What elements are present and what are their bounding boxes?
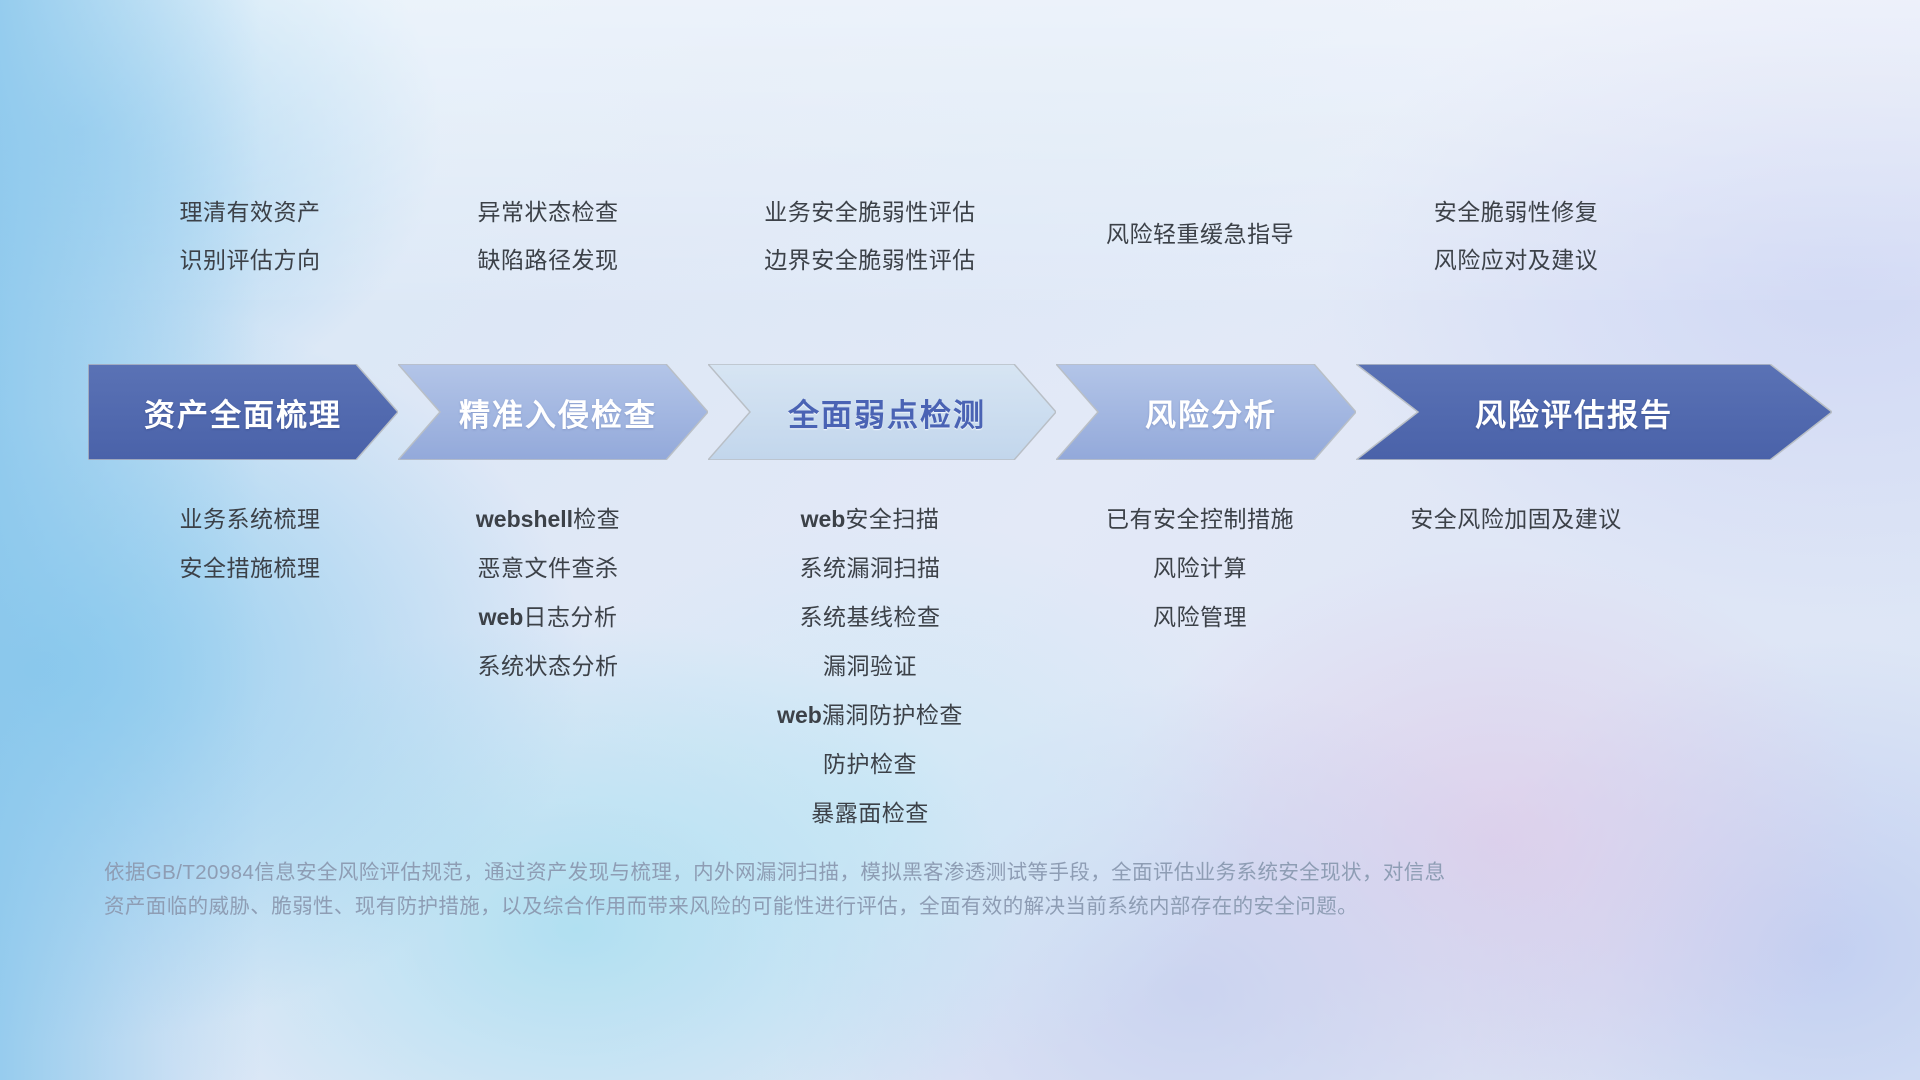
detail-item: web安全扫描 bbox=[680, 495, 1060, 544]
top-caption-risk-analysis: 风险轻重缓急指导 bbox=[1050, 210, 1350, 258]
detail-item: 系统漏洞扫描 bbox=[680, 544, 1060, 593]
detail-item-latin: webshell bbox=[476, 506, 573, 532]
detail-list-risk-analysis: 已有安全控制措施风险计算风险管理 bbox=[1030, 495, 1370, 642]
top-caption-line: 识别评估方向 bbox=[100, 236, 400, 284]
detail-item-latin: web bbox=[801, 506, 846, 532]
detail-item: 漏洞验证 bbox=[680, 642, 1060, 691]
stage-chevron-risk-report[interactable]: 风险评估报告 bbox=[1356, 364, 1832, 460]
top-caption-line: 风险应对及建议 bbox=[1356, 236, 1676, 284]
top-caption-line: 业务安全脆弱性评估 bbox=[700, 188, 1040, 236]
detail-item-rest: 日志分析 bbox=[523, 604, 617, 630]
detail-item-rest: 漏洞防护检查 bbox=[822, 702, 963, 728]
top-caption-risk-report: 安全脆弱性修复风险应对及建议 bbox=[1356, 188, 1676, 284]
detail-item: 风险计算 bbox=[1030, 544, 1370, 593]
top-caption-weakness-detection: 业务安全脆弱性评估边界安全脆弱性评估 bbox=[700, 188, 1040, 284]
detail-item-latin: web bbox=[777, 702, 822, 728]
detail-item: 安全风险加固及建议 bbox=[1336, 495, 1696, 544]
detail-item: 恶意文件查杀 bbox=[378, 544, 718, 593]
detail-item: 防护检查 bbox=[680, 740, 1060, 789]
detail-item: web日志分析 bbox=[378, 593, 718, 642]
stage-title-intrusion-check: 精准入侵检查 bbox=[459, 390, 657, 435]
stage-chevron-weakness-detection[interactable]: 全面弱点检测 bbox=[708, 364, 1056, 460]
detail-item: 系统状态分析 bbox=[378, 642, 718, 691]
detail-item: 风险管理 bbox=[1030, 593, 1370, 642]
detail-item-latin: web bbox=[479, 604, 524, 630]
footer-line: 资产面临的威胁、脆弱性、现有防护措施，以及综合作用而带来风险的可能性进行评估，全… bbox=[104, 890, 1824, 924]
detail-item: web漏洞防护检查 bbox=[680, 691, 1060, 740]
detail-item: webshell检查 bbox=[378, 495, 718, 544]
stage-chevron-band: 资产全面梳理精准入侵检查全面弱点检测风险分析风险评估报告 bbox=[0, 364, 1920, 460]
detail-item: 已有安全控制措施 bbox=[1030, 495, 1370, 544]
top-caption-line: 安全脆弱性修复 bbox=[1356, 188, 1676, 236]
top-caption-asset-inventory: 理清有效资产识别评估方向 bbox=[100, 188, 400, 284]
detail-item: 安全措施梳理 bbox=[80, 544, 420, 593]
detail-list-weakness-detection: web安全扫描系统漏洞扫描系统基线检查漏洞验证web漏洞防护检查防护检查暴露面检… bbox=[680, 495, 1060, 838]
top-caption-intrusion-check: 异常状态检查缺陷路径发现 bbox=[398, 188, 698, 284]
detail-item: 业务系统梳理 bbox=[80, 495, 420, 544]
top-caption-line: 缺陷路径发现 bbox=[398, 236, 698, 284]
stage-chevron-intrusion-check[interactable]: 精准入侵检查 bbox=[398, 364, 708, 460]
stage-title-asset-inventory: 资产全面梳理 bbox=[144, 390, 342, 435]
stage-chevron-risk-analysis[interactable]: 风险分析 bbox=[1056, 364, 1356, 460]
detail-item-rest: 安全扫描 bbox=[845, 506, 939, 532]
detail-item: 系统基线检查 bbox=[680, 593, 1060, 642]
top-caption-line: 理清有效资产 bbox=[100, 188, 400, 236]
footer-line: 依据GB/T20984信息安全风险评估规范，通过资产发现与梳理，内外网漏洞扫描，… bbox=[104, 856, 1824, 890]
stage-title-weakness-detection: 全面弱点检测 bbox=[788, 390, 986, 435]
detail-list-risk-report: 安全风险加固及建议 bbox=[1336, 495, 1696, 544]
top-caption-line: 风险轻重缓急指导 bbox=[1050, 210, 1350, 258]
stage-title-risk-analysis: 风险分析 bbox=[1145, 390, 1277, 435]
top-caption-line: 异常状态检查 bbox=[398, 188, 698, 236]
top-caption-line: 边界安全脆弱性评估 bbox=[700, 236, 1040, 284]
detail-item-rest: 检查 bbox=[573, 506, 620, 532]
footer-description: 依据GB/T20984信息安全风险评估规范，通过资产发现与梳理，内外网漏洞扫描，… bbox=[104, 856, 1824, 924]
stage-title-risk-report: 风险评估报告 bbox=[1475, 390, 1673, 435]
process-diagram: 理清有效资产识别评估方向异常状态检查缺陷路径发现业务安全脆弱性评估边界安全脆弱性… bbox=[0, 0, 1920, 1080]
detail-list-intrusion-check: webshell检查恶意文件查杀web日志分析系统状态分析 bbox=[378, 495, 718, 691]
detail-item: 暴露面检查 bbox=[680, 789, 1060, 838]
detail-list-asset-inventory: 业务系统梳理安全措施梳理 bbox=[80, 495, 420, 593]
stage-chevron-asset-inventory[interactable]: 资产全面梳理 bbox=[88, 364, 398, 460]
